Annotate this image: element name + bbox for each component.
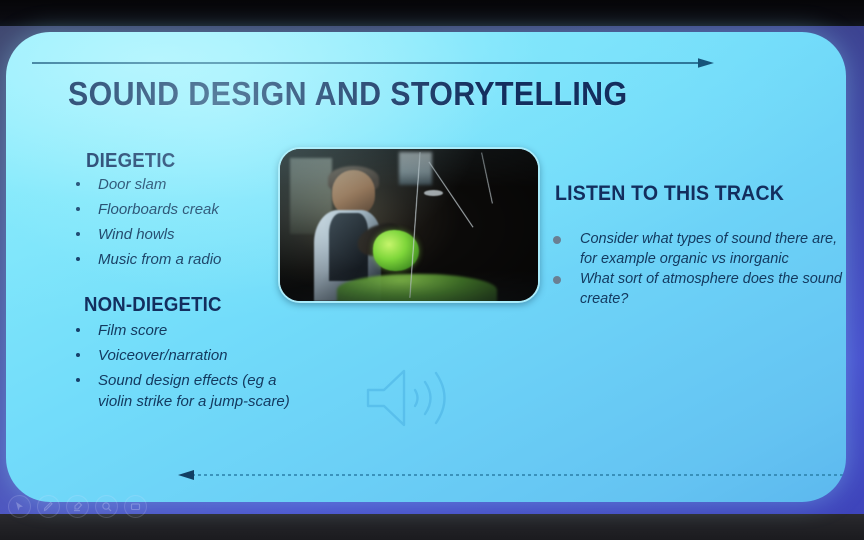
list-listen-questions: Consider what types of sound there are, …: [544, 230, 844, 310]
pointer-tool-button[interactable]: [8, 495, 31, 518]
pen-tool-button[interactable]: [37, 495, 60, 518]
list-item-text: What sort of atmosphere does the sound c…: [580, 270, 844, 309]
speaker-waves-icon[interactable]: [362, 363, 458, 433]
list-item: Door slam: [62, 174, 292, 195]
eraser-tool-button[interactable]: [95, 495, 118, 518]
pointer-icon: [14, 501, 25, 512]
list-item: Film score: [62, 320, 292, 341]
heading-listen-to-this-track: LISTEN TO THIS TRACK: [555, 182, 784, 206]
list-item: Music from a radio: [62, 249, 292, 270]
list-item: Floorboards creak: [62, 199, 292, 220]
list-item-text: Voiceover/narration: [98, 345, 292, 366]
projector-screenshot: SOUND DESIGN AND STORYTELLING DIEGETIC D…: [0, 0, 864, 540]
heading-non-diegetic: NON-DIEGETIC: [84, 294, 222, 317]
list-item-text: Floorboards creak: [98, 199, 292, 220]
menu-icon: [130, 501, 141, 512]
highlighter-tool-button[interactable]: [66, 495, 89, 518]
heading-diegetic: DIEGETIC: [86, 150, 175, 173]
list-item: Sound design effects (eg a violin strike…: [62, 370, 292, 412]
slide-menu-tool-button[interactable]: [124, 495, 147, 518]
highlighter-icon: [72, 501, 83, 512]
slide-title: SOUND DESIGN AND STORYTELLING: [68, 75, 627, 113]
list-item-text: Wind howls: [98, 224, 292, 245]
pen-icon: [43, 501, 54, 512]
presentation-toolbar[interactable]: [8, 495, 147, 518]
video-thumbnail[interactable]: [278, 147, 540, 303]
eraser-icon: [101, 501, 112, 512]
list-item-text: Music from a radio: [98, 249, 292, 270]
list-item-text: Sound design effects (eg a violin strike…: [98, 370, 292, 412]
presentation-slide[interactable]: SOUND DESIGN AND STORYTELLING DIEGETIC D…: [6, 32, 846, 502]
list-item-text: Consider what types of sound there are, …: [580, 230, 844, 269]
list-item: What sort of atmosphere does the sound c…: [544, 270, 844, 309]
list-item-text: Film score: [98, 320, 292, 341]
video-vignette: [280, 149, 538, 301]
list-item: Wind howls: [62, 224, 292, 245]
list-diegetic: Door slam Floorboards creak Wind howls M…: [62, 174, 292, 274]
top-arrow-right-decoration: [32, 57, 714, 69]
list-item: Voiceover/narration: [62, 345, 292, 366]
list-item: Consider what types of sound there are, …: [544, 230, 844, 269]
bottom-arrow-left-decoration: [178, 469, 846, 481]
list-non-diegetic: Film score Voiceover/narration Sound des…: [62, 320, 292, 416]
list-item-text: Door slam: [98, 174, 292, 195]
